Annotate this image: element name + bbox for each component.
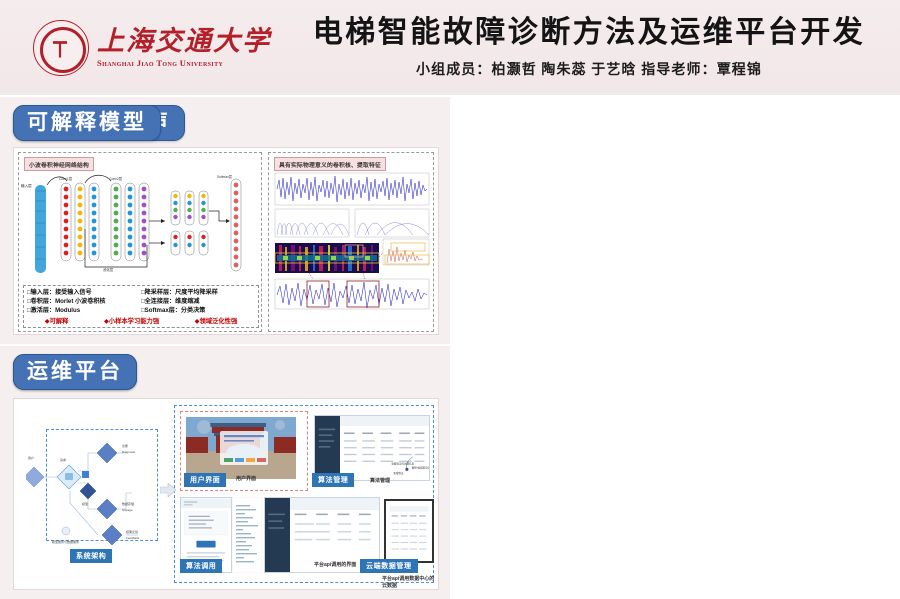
authors-line: 小组成员：柏灏哲 陶朱蕊 于艺晗 指导老师：覃程锦	[416, 59, 762, 79]
svg-text:用户: 用户	[28, 455, 34, 460]
label-algorithm-invoke[interactable]: 算法调用	[180, 559, 222, 573]
legend-cell: □输入层：接受输入信号	[27, 288, 141, 297]
svg-text:Feedback: Feedback	[126, 536, 140, 540]
svg-text:数据存储: 数据存储	[122, 501, 134, 506]
highlight-item: ◆小样本学习能力强	[104, 316, 159, 325]
legend-value: Modulus	[55, 307, 80, 314]
highlight-item: ◆领域泛化性强	[195, 316, 238, 325]
svg-text:删除/编辑算法信息: 删除/编辑算法信息	[412, 465, 429, 469]
panel-ops-platform: 用户 请求 诊断Diagnosis 数据存储Storage 模型 结果反馈Fee…	[13, 398, 439, 590]
svg-text:诊断: 诊断	[122, 443, 128, 448]
subpanel-title-network: 小波卷积神经网络结构	[24, 157, 94, 171]
svg-text:结果反馈: 结果反馈	[126, 529, 138, 534]
label-system-architecture[interactable]: 系统架构	[70, 549, 112, 563]
mock-user-interface[interactable]	[186, 417, 296, 479]
section-badge-ops-platform: 运维平台	[13, 354, 137, 390]
legend-value: 维度缩减	[175, 298, 199, 305]
legend-row: □卷积层：Morlet 小波卷积核 □全连接层：维度缩减	[27, 297, 255, 306]
highlight-item: ◆可解释	[45, 316, 69, 325]
legend-row: □激活层：Modulus □Softmax层：分类决策	[27, 306, 255, 315]
wavelet-cnn-architecture: 输入层	[19, 171, 263, 283]
section-ops-platform: 运维平台 用户	[0, 346, 450, 599]
legend-label: □输入层：	[27, 289, 55, 296]
mock-invoke-histogram	[232, 497, 262, 573]
system-architecture-flow: 用户 请求 诊断Diagnosis 数据存储Storage 模型 结果反馈Fee…	[26, 421, 166, 551]
mock-cloud-data[interactable]	[384, 499, 434, 563]
legend-cell: □降采样层：尺度平均降采样	[141, 288, 255, 297]
legend-cell: □激活层：Modulus	[27, 306, 141, 315]
legend-label: □激活层：	[27, 307, 55, 314]
svg-text:Diagnosis: Diagnosis	[122, 450, 136, 454]
highlight-row: ◆可解释 ◆小样本学习能力强 ◆领域泛化性强	[27, 316, 255, 325]
poster-header: 上海交通大学 Shanghai Jiao Tong University 电梯智…	[0, 0, 900, 95]
logo-chinese-name: 上海交通大学	[97, 27, 271, 55]
page-title: 电梯智能故障诊断方法及运维平台开发	[313, 16, 866, 51]
university-logo: 上海交通大学 Shanghai Jiao Tong University	[0, 0, 290, 95]
legend-cell: □卷积层：Morlet 小波卷积核	[27, 297, 141, 306]
caption-cloud-data: 平台api调用数据中心的云数据	[382, 575, 438, 589]
svg-text:模型: 模型	[82, 501, 88, 506]
caption-algorithm-management: 算法管理	[370, 477, 390, 484]
legend-cell: □Softmax层：分类决策	[141, 306, 255, 315]
subpanel-title-kernels: 具有实际物理意义的卷积核、提取特征	[274, 157, 386, 171]
logo-english-name: Shanghai Jiao Tong University	[97, 58, 223, 68]
legend-cell: □全连接层：维度缩减	[141, 297, 255, 306]
legend-value: 尺度平均降采样	[175, 289, 218, 296]
svg-text:新增算法: 新增算法	[393, 471, 404, 475]
panel-interpretable: 小波卷积神经网络结构 输入层	[13, 147, 439, 335]
legend-value: 接受输入信号	[55, 289, 92, 296]
label-algorithm-management[interactable]: 算法管理	[312, 473, 354, 487]
mock-algorithm-management[interactable]: 查看算法的详细信息 删除/编辑算法信息 新增算法	[314, 415, 430, 481]
svg-text:Storage: Storage	[122, 508, 133, 512]
mock-table-rows: 查看算法的详细信息 删除/编辑算法信息 新增算法	[315, 416, 429, 480]
section-badge-interpretable: 可解释模型	[13, 105, 161, 141]
mock-cloud-table	[386, 501, 432, 561]
svg-text:请求: 请求	[60, 457, 66, 462]
svg-text:查看算法的详细信息: 查看算法的详细信息	[391, 461, 414, 465]
svg-text:模型服务与数据服务: 模型服务与数据服务	[52, 539, 79, 544]
legend-label: □降采样层：	[141, 289, 175, 296]
subpanel-network-structure: 小波卷积神经网络结构 输入层	[18, 152, 262, 332]
legend-label: □卷积层：	[27, 298, 55, 305]
layer-legend-box: □输入层：接受输入信号 □降采样层：尺度平均降采样 □卷积层：Morlet 小波…	[23, 285, 259, 328]
caption-user-interface: 用户界面	[236, 475, 256, 482]
svg-text:池化层: 池化层	[103, 267, 114, 272]
title-block: 电梯智能故障诊断方法及运维平台开发 小组成员：柏灏哲 陶朱蕊 于艺晗 指导老师：…	[290, 0, 900, 95]
temple-photo	[186, 417, 296, 479]
section-interpretable-model: 可解释模型 小波卷积神经网络结构 输入层	[0, 97, 450, 344]
legend-value: 分类决策	[181, 307, 205, 314]
svg-text:输入层: 输入层	[21, 183, 32, 188]
svg-text:Conv2层: Conv2层	[109, 176, 123, 181]
arch-to-screens-arrow-icon	[160, 483, 176, 497]
label-user-interface[interactable]: 用户界面	[184, 473, 226, 487]
caption-algorithm-invoke: 平台api调用的界面	[314, 561, 356, 568]
kernel-visualization-plots	[273, 171, 431, 329]
svg-text:Softmax层: Softmax层	[217, 174, 232, 179]
logo-text-block: 上海交通大学 Shanghai Jiao Tong University	[97, 27, 271, 68]
poster-root: 上海交通大学 Shanghai Jiao Tong University 电梯智…	[0, 0, 900, 599]
legend-row: □输入层：接受输入信号 □降采样层：尺度平均降采样	[27, 288, 255, 297]
sjtu-seal-icon	[33, 20, 89, 76]
label-cloud-data-management[interactable]: 云端数据管理	[360, 559, 418, 573]
legend-label: □全连接层：	[141, 298, 175, 305]
legend-label: □Softmax层：	[141, 307, 181, 314]
subpanel-physical-kernels: 具有实际物理意义的卷积核、提取特征	[268, 152, 434, 332]
legend-value: Morlet 小波卷积核	[55, 298, 105, 305]
